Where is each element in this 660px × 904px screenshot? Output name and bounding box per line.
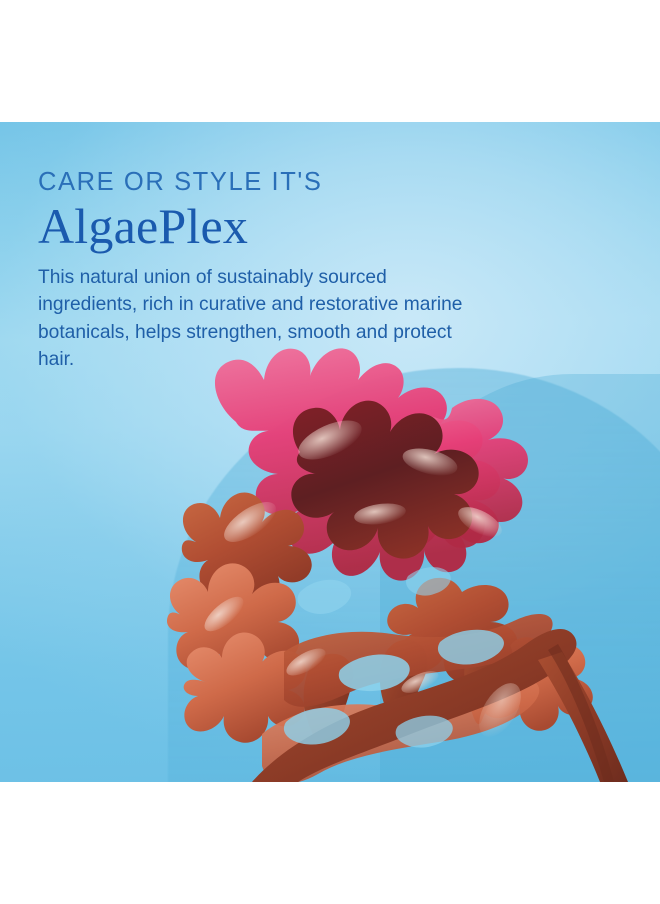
promo-banner: CARE OR STYLE IT'S AlgaePlex This natura…	[0, 0, 660, 904]
wordmark-algaeplex: AlgaePlex	[38, 200, 508, 253]
copy-block: CARE OR STYLE IT'S AlgaePlex This natura…	[38, 168, 508, 373]
eyebrow-text: CARE OR STYLE IT'S	[38, 168, 508, 196]
blue-gradient-panel: CARE OR STYLE IT'S AlgaePlex This natura…	[0, 122, 660, 782]
description-text: This natural union of sustainably source…	[38, 264, 468, 373]
